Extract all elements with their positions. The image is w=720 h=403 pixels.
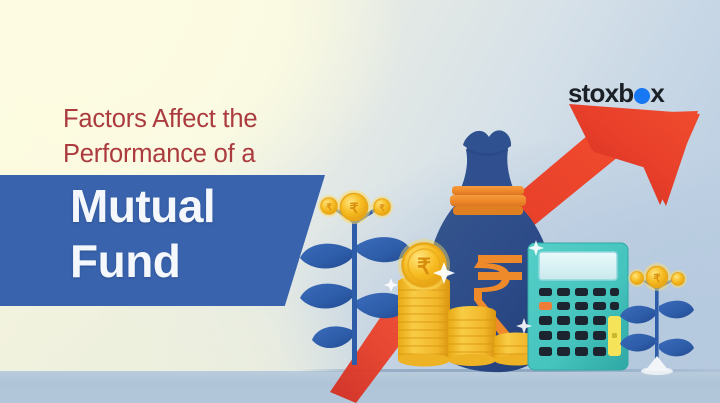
coin-stack-tall: ₹: [398, 239, 450, 367]
money-plant-right: ₹: [620, 263, 694, 375]
headline-line-1: Factors Affect the: [63, 102, 363, 137]
svg-text:₹: ₹: [350, 200, 359, 216]
coin-stack-medium: [448, 306, 496, 366]
title-line-1: Mutual: [70, 179, 330, 234]
logo-text-before: stoxb: [568, 78, 633, 109]
title-line-2: Fund: [70, 234, 330, 289]
headline-line-2: Performance of a: [63, 137, 363, 172]
mutual-fund-promo-banner: ₹ ₹ ₹: [0, 0, 720, 403]
svg-text:₹: ₹: [654, 273, 661, 285]
plant-coin-main-left: ₹: [337, 190, 371, 224]
logo-dot-icon: [634, 88, 650, 104]
title-band-text: Mutual Fund: [70, 179, 330, 289]
logo-text-after: x: [650, 78, 664, 109]
calculator-display: [539, 252, 617, 280]
sparkle-4: [384, 278, 398, 292]
svg-text:₹: ₹: [417, 254, 431, 279]
calculator-key-orange: [539, 302, 552, 310]
stoxbox-logo[interactable]: stoxbx: [568, 78, 664, 109]
headline: Factors Affect the Performance of a: [63, 102, 363, 172]
svg-text:₹: ₹: [379, 203, 385, 213]
plant-coin-main-right: ₹: [643, 263, 671, 291]
plant-coin-small-right-b: [669, 270, 687, 288]
money-bag-tie: [450, 186, 526, 215]
plant-coin-small-left-b: ₹: [371, 196, 393, 218]
plant-coin-small-right-a: [628, 269, 646, 287]
calculator: [528, 243, 628, 370]
top-coin: ₹: [398, 239, 450, 291]
